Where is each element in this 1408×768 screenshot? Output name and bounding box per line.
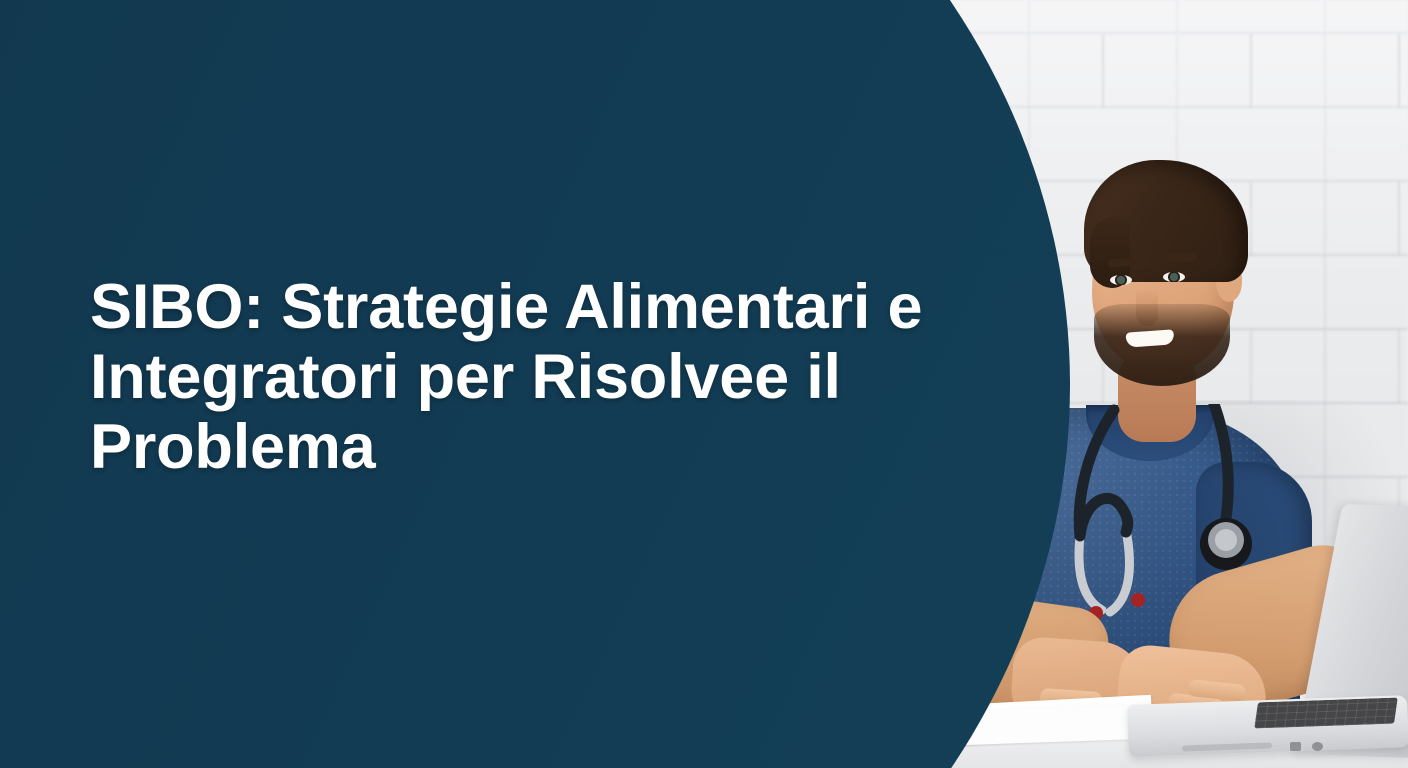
- eye-right: [1163, 272, 1185, 282]
- hero-title-block: SIBO: Strategie Alimentari e Integratori…: [90, 272, 1050, 482]
- article-hero-banner: SIBO: Strategie Alimentari e Integratori…: [0, 0, 1408, 768]
- paper-sheet: [957, 705, 1148, 746]
- page-title: SIBO: Strategie Alimentari e Integratori…: [90, 272, 1050, 482]
- eye-left: [1110, 275, 1132, 285]
- laptop-port: [1290, 742, 1301, 751]
- laptop-port: [1312, 742, 1323, 751]
- laptop-keyboard: [1254, 697, 1398, 728]
